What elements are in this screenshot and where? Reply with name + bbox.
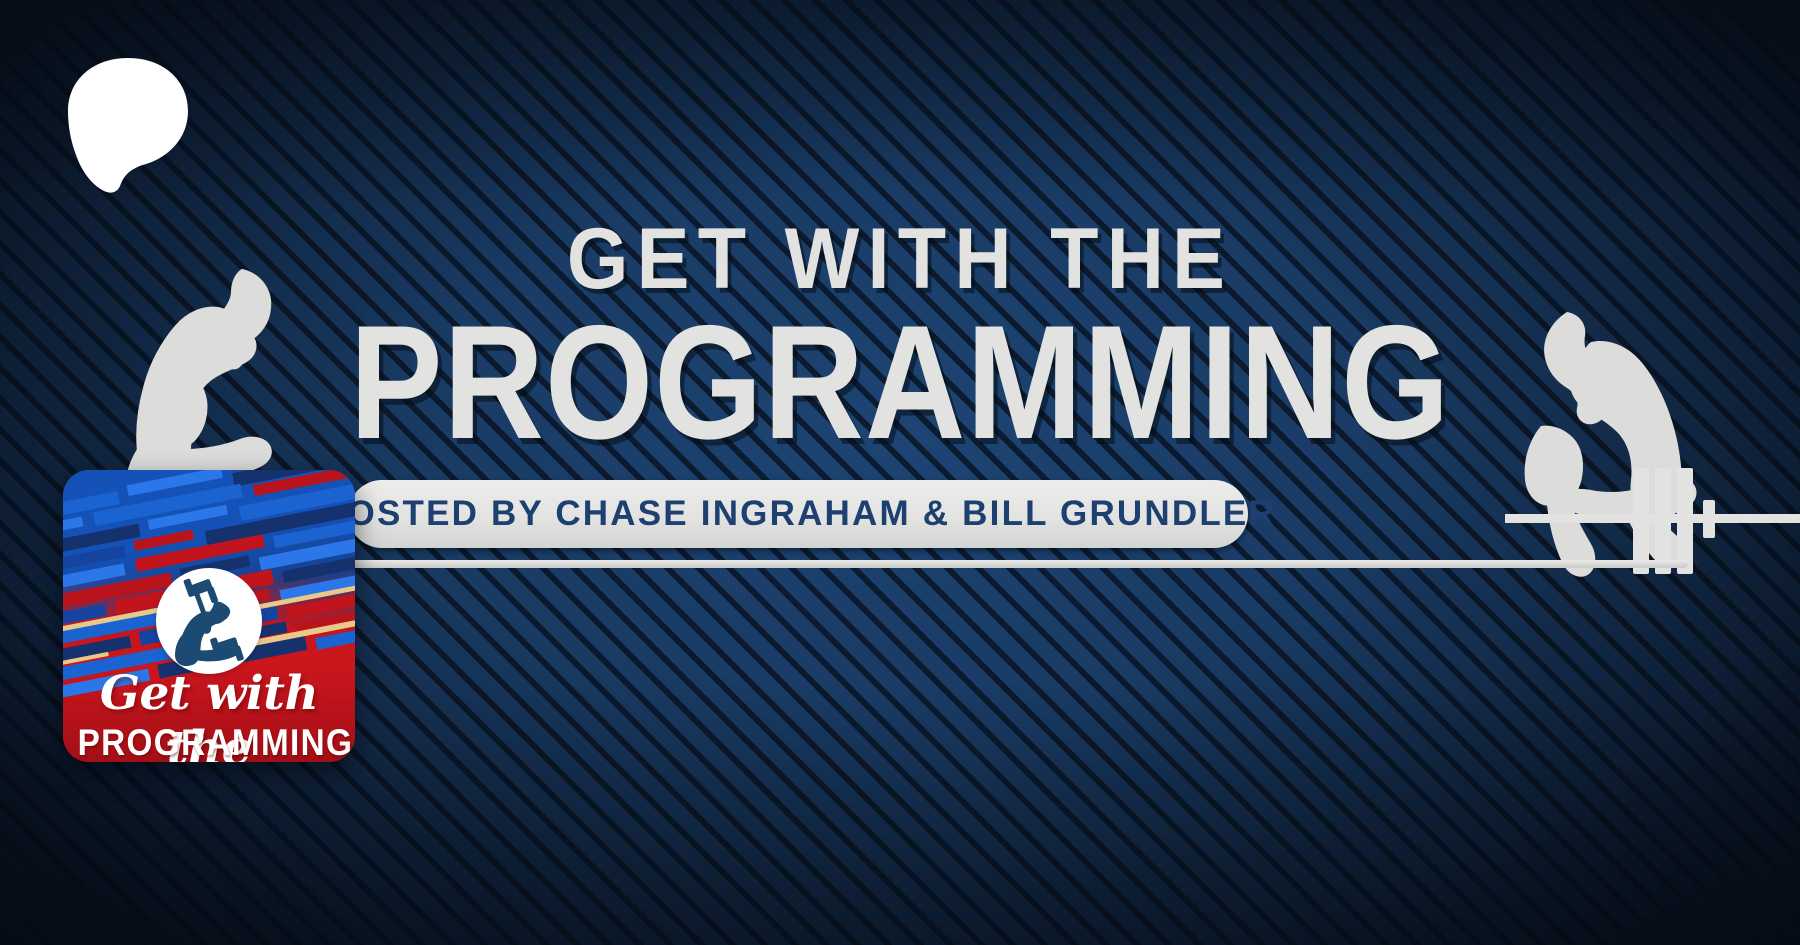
cover-subtitle-text: PROGRAMMING xyxy=(78,722,341,762)
patreon-logo-icon[interactable] xyxy=(66,54,190,194)
thinker-on-barbell-icon xyxy=(1505,282,1800,582)
thinker-statue-icon xyxy=(92,248,302,508)
hosted-by-text: HOSTED BY CHASE INGRAHAM & BILL GRUNDLER xyxy=(320,494,1276,534)
hosted-by-banner: HOSTED BY CHASE INGRAHAM & BILL GRUNDLER xyxy=(348,480,1248,548)
podcast-banner-stage: GET WITH THE PROGRAMMING HOSTED BY CHASE… xyxy=(0,0,1800,945)
banner-rail xyxy=(348,560,1688,568)
lifter-thinker-badge-icon xyxy=(156,568,262,674)
podcast-cover-art[interactable]: Get with the PROGRAMMING xyxy=(63,470,355,762)
